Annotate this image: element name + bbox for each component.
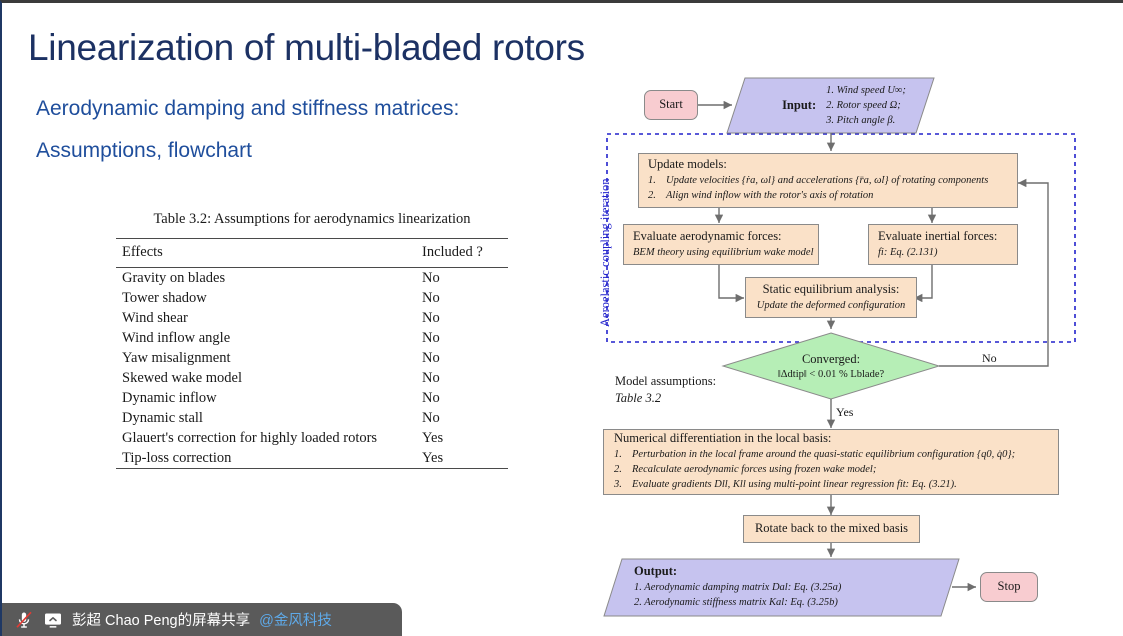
table-row: Dynamic stall No — [116, 408, 508, 428]
table-body: Gravity on blades No Tower shadow No Win… — [116, 268, 508, 470]
list-number: 2. — [614, 462, 626, 477]
slide-subtitle-primary: Aerodynamic damping and stiffness matric… — [36, 97, 459, 121]
edge-label-no: No — [982, 351, 997, 366]
table-header-row: Effects Included ? — [116, 239, 508, 268]
node-input[interactable]: Input: 1. Wind speed U∞; 2. Rotor speed … — [732, 78, 932, 133]
loop-region-label: Aeroelastic coupling iteration — [598, 178, 613, 327]
list-text: Evaluate gradients Dll, Kll using multi-… — [632, 477, 957, 492]
node-static-equilibrium[interactable]: Static equilibrium analysis: Update the … — [745, 277, 917, 318]
column-header-included: Included ? — [422, 239, 508, 268]
node-convergence-condition: ‖Δdtip‖ < 0.01 % Lblade? — [778, 367, 884, 382]
node-aerodynamic-forces[interactable]: Evaluate aerodynamic forces: BEM theory … — [623, 224, 819, 265]
node-inertial-forces[interactable]: Evaluate inertial forces: fi: Eq. (2.131… — [868, 224, 1018, 265]
model-assumptions-title: Model assumptions: — [615, 373, 716, 390]
screen-share-bar: 彭超 Chao Peng的屏幕共享 @金风科技 — [2, 603, 402, 636]
node-aerodynamic-forces-detail: BEM theory using equilibrium wake model — [633, 245, 809, 260]
cell-included: No — [422, 368, 508, 388]
list-number: 1. — [614, 447, 626, 462]
table-row: Tower shadow No — [116, 288, 508, 308]
table-row: Skewed wake model No — [116, 368, 508, 388]
cell-included: Yes — [422, 448, 508, 469]
cell-included: No — [422, 288, 508, 308]
cell-effect: Dynamic stall — [116, 408, 422, 428]
cell-included: No — [422, 308, 508, 328]
node-update-models[interactable]: Update models: 1. Update velocities {ṙa,… — [638, 153, 1018, 208]
table-row: Dynamic inflow No — [116, 388, 508, 408]
list-item: 2. Rotor speed Ω; — [826, 98, 906, 113]
cell-effect: Yaw misalignment — [116, 348, 422, 368]
cell-effect: Wind inflow angle — [116, 328, 422, 348]
cell-included: No — [422, 408, 508, 428]
list-item: 2. Align wind inflow with the rotor's ax… — [648, 188, 1008, 203]
page-title: Linearization of multi-bladed rotors — [28, 27, 585, 69]
node-static-equilibrium-title: Static equilibrium analysis: — [763, 282, 900, 298]
cell-included: No — [422, 388, 508, 408]
list-number: 2. — [648, 188, 660, 203]
list-item: 1. Wind speed U∞; — [826, 83, 906, 98]
slide-subtitle-secondary: Assumptions, flowchart — [36, 139, 252, 163]
node-start-label: Start — [659, 97, 683, 113]
table-row: Wind shear No — [116, 308, 508, 328]
node-start[interactable]: Start — [644, 90, 698, 120]
cell-effect: Tower shadow — [116, 288, 422, 308]
share-owner-label: 彭超 Chao Peng的屏幕共享 — [72, 609, 250, 630]
list-item: 3. Evaluate gradients Dll, Kll using mul… — [614, 477, 1048, 492]
flowchart: Start Input: 1. Wind speed U∞; 2. Rotor … — [582, 65, 1123, 623]
cell-effect: Wind shear — [116, 308, 422, 328]
cell-effect: Dynamic inflow — [116, 388, 422, 408]
assumptions-table-block: Table 3.2: Assumptions for aerodynamics … — [116, 211, 508, 469]
node-static-equilibrium-detail: Update the deformed configuration — [757, 298, 905, 313]
node-convergence-title: Converged: — [802, 352, 860, 368]
cell-included: No — [422, 328, 508, 348]
table-caption: Table 3.2: Assumptions for aerodynamics … — [116, 211, 508, 228]
cell-included: No — [422, 348, 508, 368]
node-stop-label: Stop — [998, 579, 1021, 595]
list-item: 3. Pitch angle β. — [826, 113, 906, 128]
slide-canvas: Linearization of multi-bladed rotors Aer… — [0, 0, 1123, 636]
cell-included: No — [422, 268, 508, 289]
list-text: Align wind inflow with the rotor's axis … — [666, 188, 873, 203]
node-stop[interactable]: Stop — [980, 572, 1038, 602]
table-row: Gravity on blades No — [116, 268, 508, 289]
table-row: Tip-loss correction Yes — [116, 448, 508, 469]
list-item: 2. Recalculate aerodynamic forces using … — [614, 462, 1048, 477]
list-text: Recalculate aerodynamic forces using fro… — [632, 462, 876, 477]
cell-effect: Tip-loss correction — [116, 448, 422, 469]
node-numerical-differentiation[interactable]: Numerical differentiation in the local b… — [603, 429, 1059, 495]
table-row: Yaw misalignment No — [116, 348, 508, 368]
node-output[interactable]: Output: 1. Aerodynamic damping matrix Da… — [624, 559, 954, 616]
list-item: 1. Aerodynamic damping matrix Dal: Eq. (… — [634, 580, 944, 595]
list-number: 1. — [648, 173, 660, 188]
list-number: 3. — [614, 477, 626, 492]
screen-share-icon[interactable] — [43, 610, 63, 630]
node-update-models-title: Update models: — [648, 157, 1008, 173]
node-output-label: Output: — [634, 564, 944, 580]
microphone-muted-icon[interactable] — [14, 610, 34, 630]
table-bottom-rule — [116, 469, 508, 470]
node-input-label: Input: — [782, 98, 816, 114]
assumptions-table: Effects Included ? Gravity on blades No … — [116, 238, 508, 469]
list-item: 1. Update velocities {ṙa, ωl} and accele… — [648, 173, 1008, 188]
node-inertial-forces-detail: fi: Eq. (2.131) — [878, 245, 1008, 260]
node-numerical-diff-title: Numerical differentiation in the local b… — [614, 431, 1048, 447]
node-convergence-decision[interactable]: Converged: ‖Δdtip‖ < 0.01 % Lblade? — [747, 348, 915, 386]
table-row: Glauert's correction for highly loaded r… — [116, 428, 508, 448]
node-rotate-back[interactable]: Rotate back to the mixed basis — [743, 515, 920, 543]
node-rotate-back-label: Rotate back to the mixed basis — [755, 521, 908, 537]
share-handle-label: @金风科技 — [259, 609, 332, 630]
node-aerodynamic-forces-title: Evaluate aerodynamic forces: — [633, 229, 809, 245]
node-input-items: 1. Wind speed U∞; 2. Rotor speed Ω; 3. P… — [826, 83, 906, 129]
cell-included: Yes — [422, 428, 508, 448]
list-item: 1. Perturbation in the local frame aroun… — [614, 447, 1048, 462]
cell-effect: Glauert's correction for highly loaded r… — [116, 428, 422, 448]
model-assumptions-note: Model assumptions: Table 3.2 — [615, 373, 716, 407]
cell-effect: Gravity on blades — [116, 268, 422, 289]
column-header-effects: Effects — [116, 239, 422, 268]
cell-effect: Skewed wake model — [116, 368, 422, 388]
edge-label-yes: Yes — [836, 405, 853, 420]
list-item: 2. Aerodynamic stiffness matrix Kal: Eq.… — [634, 595, 944, 610]
list-text: Update velocities {ṙa, ωl} and accelerat… — [666, 173, 988, 188]
model-assumptions-ref: Table 3.2 — [615, 390, 716, 407]
table-row: Wind inflow angle No — [116, 328, 508, 348]
list-text: Perturbation in the local frame around t… — [632, 447, 1015, 462]
node-inertial-forces-title: Evaluate inertial forces: — [878, 229, 1008, 245]
